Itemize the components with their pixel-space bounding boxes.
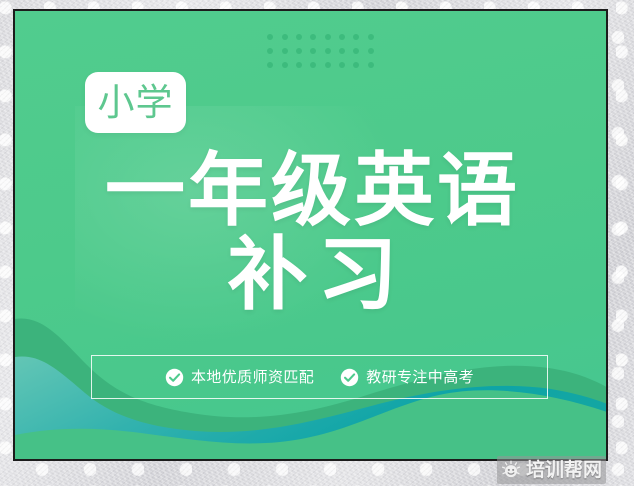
stage-tag-badge: 小学 [85,72,186,133]
grid-dot [368,34,374,40]
grid-dot [353,48,359,54]
grid-dot [368,48,374,54]
poster-root: 小学 一年级英语 补习 本地优质师资匹配 教研专注中高考 [0,0,634,486]
feature-label-1: 本地优质师资匹配 [191,370,314,385]
sun-smiley-icon [501,460,521,480]
grid-dot [310,48,316,54]
headline-block: 一年级英语 补习 [15,149,608,317]
grid-dot [325,62,331,68]
grid-dot [368,62,374,68]
feature-badge-bar: 本地优质师资匹配 教研专注中高考 [91,355,548,399]
grid-dot [325,34,331,40]
grid-dot [267,62,273,68]
feature-item-1: 本地优质师资匹配 [165,368,314,387]
grid-dot [296,48,302,54]
grid-dot [296,34,302,40]
grid-dot [339,48,345,54]
headline-line-1: 一年级英语 [15,149,608,233]
grid-dot [282,34,288,40]
watermark-text: 培训帮网 [526,461,602,480]
grid-dot [353,34,359,40]
feature-label-2: 教研专注中高考 [366,370,474,385]
grid-dot [339,34,345,40]
feature-item-2: 教研专注中高考 [340,368,474,387]
dot-grid-decoration [263,30,378,72]
stage-tag-label: 小学 [98,84,174,121]
grid-dot [325,48,331,54]
grid-dot [296,62,302,68]
grid-dot [310,34,316,40]
wave-green [15,390,608,459]
grid-dot [267,34,273,40]
grid-dot [353,62,359,68]
check-circle-icon [340,368,359,387]
grid-dot [339,62,345,68]
grid-dot [310,62,316,68]
promo-card: 小学 一年级英语 补习 本地优质师资匹配 教研专注中高考 [13,9,608,461]
watermark: 培训帮网 [497,456,606,484]
grid-dot [282,48,288,54]
grid-dot [282,62,288,68]
headline-line-2: 补习 [15,233,608,317]
check-circle-icon [165,368,184,387]
grid-dot [267,48,273,54]
